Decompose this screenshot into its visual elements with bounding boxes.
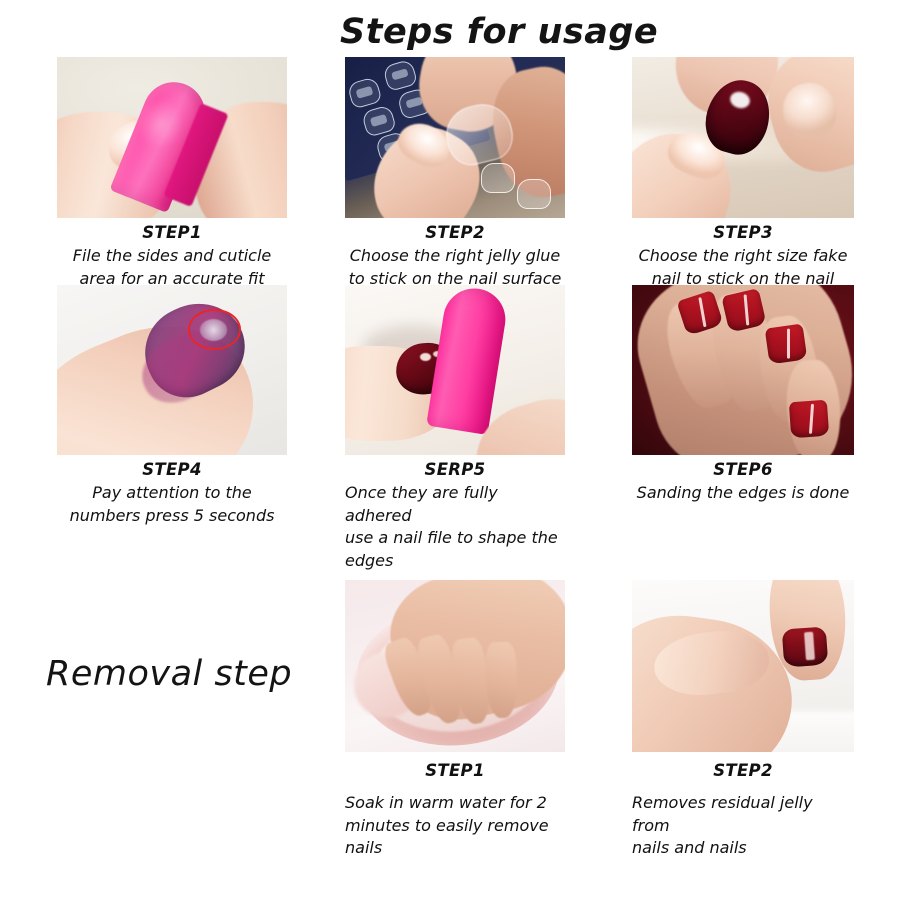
section-title-removal-step: Removal step <box>46 654 292 694</box>
usage-step-3-photo <box>632 57 854 218</box>
caption-line: Sanding the edges is done <box>632 482 854 505</box>
caption-line: Choose the right size fake <box>632 245 854 268</box>
glue-tab <box>347 77 383 110</box>
removal-step-2-description: Removes residual jelly from nails and na… <box>632 792 854 860</box>
usage-step-1: STEP1 File the sides and cuticle area fo… <box>57 57 287 290</box>
usage-step-4-label: STEP4 <box>57 460 287 479</box>
removal-step-1-photo <box>345 580 565 752</box>
usage-step-6-label: STEP6 <box>632 460 854 479</box>
usage-step-1-description: File the sides and cuticle area for an a… <box>57 245 287 290</box>
glue-tab-foreground <box>517 179 551 209</box>
caption-line: File the sides and cuticle <box>57 245 287 268</box>
caption-line: edges <box>345 550 565 573</box>
removal-step-1-label: STEP1 <box>345 761 565 780</box>
usage-step-1-photo <box>57 57 287 218</box>
caption-line: use a nail file to shape the <box>345 527 565 550</box>
usage-step-5-description: Once they are fully adhered use a nail f… <box>345 482 565 573</box>
removal-step-2-label: STEP2 <box>632 761 854 780</box>
removal-step-2-photo <box>632 580 854 752</box>
usage-step-6: STEP6 Sanding the edges is done <box>632 285 854 505</box>
caption-line: nails and nails <box>632 837 854 860</box>
usage-step-6-description: Sanding the edges is done <box>632 482 854 505</box>
removal-step-1: STEP1 Soak in warm water for 2 minutes t… <box>345 580 565 860</box>
red-nail <box>765 323 807 364</box>
glue-tab <box>382 59 418 92</box>
nail-gloss-highlight <box>420 353 431 361</box>
removal-step-2: STEP2 Removes residual jelly from nails … <box>632 580 854 860</box>
caption-line: Once they are fully adhered <box>345 482 565 527</box>
poster-root: Steps for usage STEP1 File the sides and… <box>0 0 900 900</box>
usage-step-3-description: Choose the right size fake nail to stick… <box>632 245 854 290</box>
glue-tab-foreground <box>481 163 515 193</box>
caption-line: Choose the right jelly glue <box>345 245 565 268</box>
caption-line: Pay attention to the <box>57 482 287 505</box>
red-annotation-circle <box>188 309 241 350</box>
usage-step-2-photo <box>345 57 565 218</box>
caption-line: Removes residual jelly from <box>632 792 854 837</box>
usage-step-5: SERP5 Once they are fully adhered use a … <box>345 285 565 573</box>
usage-step-5-photo <box>345 285 565 455</box>
caption-line: numbers press 5 seconds <box>57 505 287 528</box>
usage-step-4-description: Pay attention to the numbers press 5 sec… <box>57 482 287 527</box>
usage-step-2: STEP2 Choose the right jelly glue to sti… <box>345 57 565 290</box>
page-title-steps-for-usage: Steps for usage <box>340 12 640 52</box>
usage-step-2-label: STEP2 <box>345 223 565 242</box>
usage-step-2-description: Choose the right jelly glue to stick on … <box>345 245 565 290</box>
usage-step-4-photo <box>57 285 287 455</box>
red-nail <box>788 399 828 437</box>
usage-step-6-photo <box>632 285 854 455</box>
removal-step-1-description: Soak in warm water for 2 minutes to easi… <box>345 792 565 860</box>
usage-step-3: STEP3 Choose the right size fake nail to… <box>632 57 854 290</box>
usage-step-1-label: STEP1 <box>57 223 287 242</box>
usage-step-5-label: SERP5 <box>345 460 565 479</box>
caption-line: minutes to easily remove nails <box>345 815 565 860</box>
usage-step-3-label: STEP3 <box>632 223 854 242</box>
usage-step-4: STEP4 Pay attention to the numbers press… <box>57 285 287 527</box>
caption-line: Soak in warm water for 2 <box>345 792 565 815</box>
